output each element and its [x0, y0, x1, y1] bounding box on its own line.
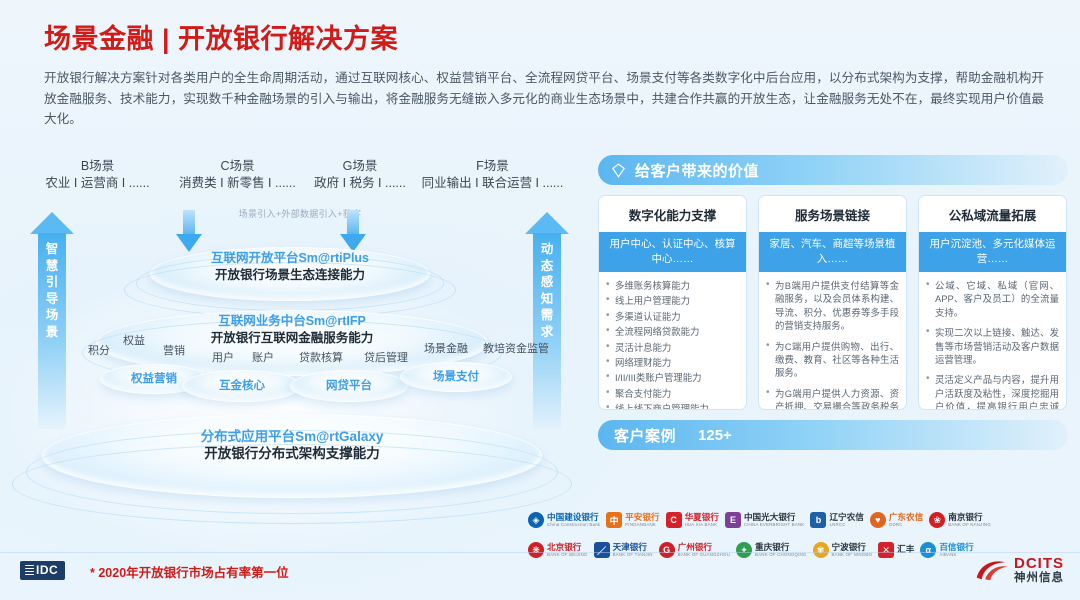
logo-name-en: HUA XIA BANK — [685, 523, 719, 527]
logo-name-en: BANK OF CHONGQING — [755, 553, 806, 557]
idc-bars-icon — [25, 565, 34, 576]
logo-chongqing: ✦ 重庆银行 BANK OF CHONGQING — [736, 538, 806, 562]
card-title: 服务场景链接 — [759, 196, 906, 232]
card-subtitle: 家居、汽车、商超等场景植入…… — [759, 232, 906, 272]
logo-nanjing: ❀ 南京银行 BANK OF NANJING — [929, 508, 991, 532]
cases-header: 客户案例 125+ — [598, 420, 1068, 450]
list-item: 聚合支付能力 — [606, 387, 739, 400]
scenario-f: F场景 同业输出 I 联合运营 I ...... — [400, 158, 585, 192]
bank-mark-icon: ◈ — [528, 512, 544, 528]
list-item: 为C端用户提供购物、出行、缴费、教育、社区等各种生活服务。 — [766, 340, 899, 380]
layer-2-platform-name: 互联网业务中台Sm@rtIFP — [96, 313, 488, 330]
layer-3-label: 分布式应用平台Sm@rtGalaxy 开放银行分布式架构支撑能力 — [42, 428, 542, 462]
logo-gdrc: ♥ 广东农信 GDRC — [870, 508, 923, 532]
scenario-sub: 同业输出 I 联合运营 I ...... — [400, 174, 585, 192]
logo-name-en: CHINA EVERBRIGHT BANK — [744, 523, 804, 527]
cap-quanyi: 权益 — [123, 332, 145, 348]
cap-yingxiao: 营销 — [163, 342, 185, 358]
logo-guangzhou: G 广州银行 BANK OF GUANGZHOU — [659, 538, 730, 562]
list-item: 全流程网络贷款能力 — [606, 325, 739, 338]
cap-changjingjinrong: 场景金融 — [424, 340, 468, 356]
bank-mark-icon: 中 — [606, 512, 622, 528]
cap-daikuanhesuan: 贷款核算 — [299, 349, 343, 365]
dcits-logo: DCITS 神州信息 — [975, 556, 1064, 585]
bank-mark-icon: ／ — [594, 542, 610, 558]
value-panel-title: 给客户带来的价值 — [635, 160, 759, 181]
logo-pingan: 中 平安银行 PINGANBANK — [606, 508, 659, 532]
logo-name-cn: 北京银行 — [547, 543, 588, 552]
dcits-name-en: DCITS — [1014, 556, 1064, 571]
logo-name-cn: 华夏银行 — [685, 513, 719, 522]
logo-name-en: BANK OF TIANJIN — [613, 553, 653, 557]
logo-name-cn: 平安银行 — [625, 513, 659, 522]
card-item-list: 公域、它域、私域（官网、APP、客户及员工）的全流量支持。 实现二次以上链接、触… — [926, 279, 1059, 410]
page-header: 场景金融 | 开放银行解决方案 开放银行解决方案针对各类用户的全生命周期活动，通… — [44, 22, 1044, 130]
cap-jifen: 积分 — [88, 342, 110, 358]
cap-daihouguanli: 贷后管理 — [364, 349, 408, 365]
arrow-down-icon — [176, 210, 202, 252]
logo-name-en: LNRCC — [829, 523, 863, 527]
cap-zhanghu: 账户 — [252, 349, 274, 365]
logo-name-en: BANK OF GUANGZHOU — [678, 553, 730, 557]
card-item-list: 为B端用户提供支付结算等金融服务，以及会员体系构建、导流、积分、优惠券等多手段的… — [766, 279, 899, 410]
logo-name-cn: 南京银行 — [948, 513, 991, 522]
logo-name-cn: 重庆银行 — [755, 543, 806, 552]
logo-ccb: ◈ 中国建设银行 China Construction Bank — [528, 508, 600, 532]
bank-mark-icon: b — [810, 512, 826, 528]
flow-caption: 场景引入+外部数据引入+获客 — [205, 207, 395, 220]
logo-name-en: PINGANBANK — [625, 523, 659, 527]
idc-logo: IDC — [20, 561, 65, 580]
logo-name-en: AIBANK — [939, 553, 973, 557]
ch: 智 — [46, 241, 59, 258]
logo-beijing: ❋ 北京银行 BANK OF BEIJING — [528, 538, 588, 562]
logo-name-en: BANK OF NANJING — [948, 523, 991, 527]
value-card-service-scenario[interactable]: 服务场景链接 家居、汽车、商超等场景植入…… 为B端用户提供支付结算等金融服务，… — [758, 195, 907, 410]
list-item: 线上用户管理能力 — [606, 294, 739, 307]
card-subtitle: 用户沉淀池、多元化媒体运营…… — [919, 232, 1066, 272]
footer-note: * 2020年开放银行市场占有率第一位 — [90, 562, 289, 581]
value-card-traffic-expansion[interactable]: 公私域流量拓展 用户沉淀池、多元化媒体运营…… 公域、它域、私域（官网、APP、… — [918, 195, 1067, 410]
logo-hsbc: ✕ 汇丰 — [878, 538, 914, 562]
list-item: 为B端用户提供支付结算等金融服务，以及会员体系构建、导流、积分、优惠券等多手段的… — [766, 279, 899, 333]
dcits-name-cn: 神州信息 — [1014, 573, 1064, 585]
value-panel: 给客户带来的价值 数字化能力支撑 用户中心、认证中心、核算中心…… 多维账务核算… — [598, 155, 1068, 450]
bank-mark-icon: G — [659, 542, 675, 558]
list-item: 实现二次以上链接、触达、发售等市场营销活动及客户数据运营管理。 — [926, 326, 1059, 366]
list-item: 网络理财能力 — [606, 356, 739, 369]
arrow-down-icon — [340, 210, 366, 252]
list-item: 为G端用户提供人力资源、资产抵押、交易撮合等政务税务基础服务。 — [766, 387, 899, 410]
card-body: 多维账务核算能力 线上用户管理能力 多渠道认证能力 全流程网络贷款能力 灵活计息… — [599, 272, 746, 410]
layer-1-capability: 开放银行场景生态连接能力 — [150, 267, 430, 284]
logo-row-1: ◈ 中国建设银行 China Construction Bank 中 平安银行 … — [528, 507, 1074, 533]
card-body: 公域、它域、私域（官网、APP、客户及员工）的全流量支持。 实现二次以上链接、触… — [919, 272, 1066, 410]
bank-mark-icon: ✾ — [813, 542, 829, 558]
bank-mark-icon: ❋ — [528, 542, 544, 558]
logo-huaxia: C 华夏银行 HUA XIA BANK — [666, 508, 719, 532]
logo-tianjin: ／ 天津银行 BANK OF TIANJIN — [594, 538, 653, 562]
bank-mark-icon: C — [666, 512, 682, 528]
pillar-left-label: 智慧引导场景 — [38, 233, 66, 429]
list-item: 多渠道认证能力 — [606, 310, 739, 323]
logo-name-cn: 天津银行 — [613, 543, 653, 552]
card-item-list: 多维账务核算能力 线上用户管理能力 多渠道认证能力 全流程网络贷款能力 灵活计息… — [606, 279, 739, 410]
logo-name-cn: 百信银行 — [939, 543, 973, 552]
module-online-loan-platform: 网贷平台 — [290, 377, 408, 393]
logo-lnrcc: b 辽宁农信 LNRCC — [810, 508, 863, 532]
list-item: I/II/III类账户管理能力 — [606, 371, 739, 384]
list-item: 灵活计息能力 — [606, 341, 739, 354]
logo-name-en: GDRC — [889, 523, 923, 527]
bank-mark-icon: ❀ — [929, 512, 945, 528]
logo-name-en: BANK OF NINGBO — [832, 553, 873, 557]
logo-name-en: BANK OF BEIJING — [547, 553, 588, 557]
logo-name-cn: 广东农信 — [889, 513, 923, 522]
module-internet-finance-core: 互金核心 — [182, 377, 302, 393]
module-scenario-payment: 场景支付 — [400, 368, 512, 384]
logo-name-en: China Construction Bank — [547, 523, 600, 527]
layer-3-platform-name: 分布式应用平台Sm@rtGalaxy — [42, 428, 542, 445]
cases-title: 客户案例 — [614, 425, 676, 446]
value-panel-header: 给客户带来的价值 — [598, 155, 1068, 185]
dcits-swoosh-icon — [975, 557, 1009, 583]
card-title: 数字化能力支撑 — [599, 196, 746, 232]
idc-label: IDC — [36, 563, 58, 577]
bank-mark-icon: ✕ — [878, 542, 894, 558]
bank-mark-icon: ✦ — [736, 542, 752, 558]
card-subtitle: 用户中心、认证中心、核算中心…… — [599, 232, 746, 272]
logo-everbright: E 中国光大银行 CHINA EVERBRIGHT BANK — [725, 508, 804, 532]
bank-mark-icon: ♥ — [870, 512, 886, 528]
bank-mark-icon: α — [920, 542, 936, 558]
footer-divider — [0, 552, 1080, 553]
list-item: 灵活定义产品与内容，提升用户活跃度及粘性，深度挖掘用户价值，提高银行用户忠诚度。 — [926, 373, 1059, 410]
card-body: 为B端用户提供支付结算等金融服务，以及会员体系构建、导流、积分、优惠券等多手段的… — [759, 272, 906, 410]
cap-jiaopeizijianguan: 教培资金监管 — [483, 340, 549, 356]
logo-name-cn: 宁波银行 — [832, 543, 873, 552]
logo-name-cn: 辽宁农信 — [829, 513, 863, 522]
page-title: 场景金融 | 开放银行解决方案 — [44, 22, 1044, 56]
scenario-labels: B场景 农业 I 运营商 I ...... C场景 消费类 I 新零售 I ..… — [0, 158, 590, 204]
diamond-icon — [610, 162, 627, 179]
logo-aibank: α 百信银行 AIBANK — [920, 538, 973, 562]
page-description: 开放银行解决方案针对各类用户的全生命周期活动，通过互联网核心、权益营销平台、全流… — [44, 68, 1044, 130]
logo-ningbo: ✾ 宁波银行 BANK OF NINGBO — [813, 538, 873, 562]
value-card-digital-capability[interactable]: 数字化能力支撑 用户中心、认证中心、核算中心…… 多维账务核算能力 线上用户管理… — [598, 195, 747, 410]
list-item: 线上线下商户管理能力 — [606, 402, 739, 410]
bank-mark-icon: E — [725, 512, 741, 528]
list-item: 多维账务核算能力 — [606, 279, 739, 292]
card-title: 公私域流量拓展 — [919, 196, 1066, 232]
layer-3-capability: 开放银行分布式架构支撑能力 — [42, 445, 542, 462]
value-cards: 数字化能力支撑 用户中心、认证中心、核算中心…… 多维账务核算能力 线上用户管理… — [598, 195, 1068, 410]
list-item: 公域、它域、私域（官网、APP、客户及员工）的全流量支持。 — [926, 279, 1059, 319]
architecture-diagram: B场景 农业 I 运营商 I ...... C场景 消费类 I 新零售 I ..… — [0, 152, 590, 532]
layer-1-label: 互联网开放平台Sm@rtiPlus 开放银行场景生态连接能力 — [150, 250, 430, 284]
logo-name-cn: 广州银行 — [678, 543, 730, 552]
layer-1-platform-name: 互联网开放平台Sm@rtiPlus — [150, 250, 430, 267]
logo-name-cn: 中国建设银行 — [547, 513, 600, 522]
cap-yonghu: 用户 — [212, 349, 234, 365]
cases-count: 125+ — [698, 427, 732, 444]
logo-name-cn: 中国光大银行 — [744, 513, 804, 522]
scenario-title: F场景 — [400, 158, 585, 174]
pillar-right-label: 动态感知需求 — [533, 233, 561, 429]
